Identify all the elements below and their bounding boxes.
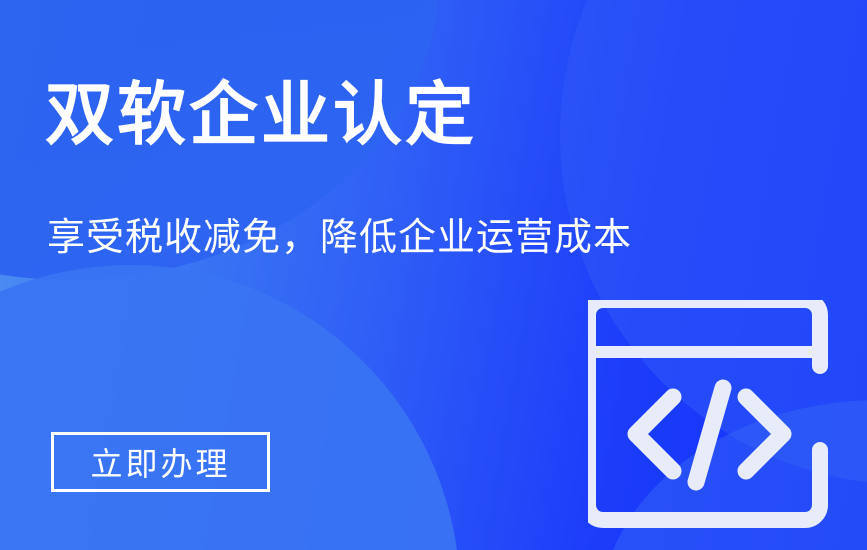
banner-headline: 双软企业认定: [45, 79, 477, 151]
left-angle-bracket-icon: [636, 397, 673, 471]
promo-banner: 双软企业认定 享受税收减免，降低企业运营成本 立即办理: [0, 0, 867, 550]
banner-content: 双软企业认定 享受税收减免，降低企业运营成本 立即办理: [0, 0, 867, 550]
code-window-icon-svg: [588, 300, 828, 528]
apply-now-button-label: 立即办理: [90, 439, 230, 485]
slash-icon: [696, 388, 723, 482]
right-angle-bracket-icon: [746, 397, 783, 471]
apply-now-button[interactable]: 立即办理: [51, 432, 270, 492]
banner-subheadline: 享受税收减免，降低企业运营成本: [47, 216, 632, 262]
code-window-icon: [588, 300, 828, 528]
window-frame-outline: [588, 300, 820, 520]
